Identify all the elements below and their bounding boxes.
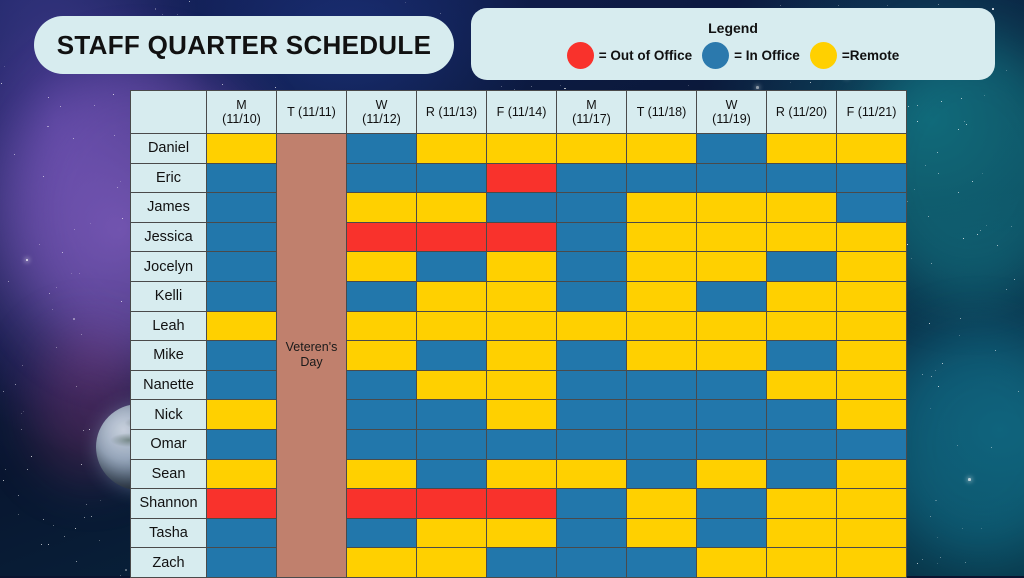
schedule-cell-in-office[interactable] [557,163,627,193]
schedule-cell-remote[interactable] [627,193,697,223]
column-header-line2: (11/17) [557,112,626,126]
schedule-cell-remote[interactable] [837,370,907,400]
schedule-cell-in-office[interactable] [347,518,417,548]
table-row: James [131,193,907,223]
schedule-cell-remote[interactable] [837,489,907,519]
column-header-4: F (11/14) [487,91,557,134]
schedule-cell-in-office[interactable] [557,400,627,430]
legend-item-1: = In Office [702,42,800,69]
legend-item-0: = Out of Office [567,42,692,69]
schedule-cell-remote[interactable] [767,222,837,252]
schedule-cell-remote[interactable] [487,370,557,400]
table-row: Jessica [131,222,907,252]
schedule-cell-in-office[interactable] [627,400,697,430]
schedule-cell-remote[interactable] [627,489,697,519]
schedule-cell-remote[interactable] [417,370,487,400]
header-corner-cell [131,91,207,134]
schedule-cell-in-office[interactable] [417,163,487,193]
schedule-cell-remote[interactable] [487,281,557,311]
schedule-cell-remote[interactable] [697,252,767,282]
schedule-cell-remote[interactable] [627,281,697,311]
staff-name-cell: Shannon [131,489,207,519]
column-header-line1: T (11/11) [277,105,346,119]
column-header-9: F (11/21) [837,91,907,134]
page-title-text: STAFF QUARTER SCHEDULE [57,30,431,61]
schedule-cell-remote[interactable] [767,370,837,400]
table-header: M(11/10)T (11/11)W(11/12)R (11/13)F (11/… [131,91,907,134]
schedule-cell-in-office[interactable] [417,341,487,371]
schedule-cell-in-office[interactable] [417,459,487,489]
schedule-cell-in-office[interactable] [767,252,837,282]
schedule-cell-remote[interactable] [417,281,487,311]
schedule-cell-remote[interactable] [487,311,557,341]
schedule-cell-out-of-office[interactable] [417,489,487,519]
schedule-cell-remote[interactable] [837,311,907,341]
staff-name-cell: Sean [131,459,207,489]
schedule-cell-remote[interactable] [627,252,697,282]
column-header-line2: (11/19) [697,112,766,126]
holiday-cell-veterans-day: Veteren'sDay [277,134,347,578]
schedule-cell-in-office[interactable] [697,281,767,311]
schedule-cell-remote[interactable] [487,400,557,430]
schedule-cell-remote[interactable] [837,459,907,489]
legend-item-label: = Out of Office [599,48,692,63]
column-header-line1: R (11/20) [767,105,836,119]
schedule-cell-in-office[interactable] [557,429,627,459]
schedule-cell-remote[interactable] [697,311,767,341]
staff-name-cell: Eric [131,163,207,193]
legend-title: Legend [708,20,758,36]
schedule-cell-in-office[interactable] [347,163,417,193]
schedule-cell-remote[interactable] [557,134,627,164]
schedule-cell-remote[interactable] [837,222,907,252]
table-row: DanielVeteren'sDay [131,134,907,164]
schedule-cell-in-office[interactable] [697,370,767,400]
column-header-3: R (11/13) [417,91,487,134]
schedule-cell-remote[interactable] [697,459,767,489]
schedule-cell-in-office[interactable] [557,489,627,519]
schedule-cell-remote[interactable] [347,341,417,371]
legend-items: = Out of Office= In Office=Remote [567,42,899,69]
schedule-cell-remote[interactable] [417,311,487,341]
schedule-cell-remote[interactable] [697,548,767,578]
staff-name-cell: Nick [131,400,207,430]
column-header-line1: T (11/18) [627,105,696,119]
schedule-cell-remote[interactable] [347,193,417,223]
schedule-cell-remote[interactable] [627,222,697,252]
schedule-cell-remote[interactable] [837,518,907,548]
schedule-cell-remote[interactable] [627,518,697,548]
schedule-cell-in-office[interactable] [697,134,767,164]
schedule-cell-in-office[interactable] [487,548,557,578]
schedule-cell-remote[interactable] [487,518,557,548]
schedule-cell-remote[interactable] [767,548,837,578]
schedule-cell-in-office[interactable] [767,400,837,430]
table-row: Nick [131,400,907,430]
schedule-cell-in-office[interactable] [767,459,837,489]
schedule-cell-in-office[interactable] [557,252,627,282]
schedule-cell-out-of-office[interactable] [207,489,277,519]
column-header-line1: M [557,98,626,112]
schedule-cell-in-office[interactable] [347,429,417,459]
schedule-cell-remote[interactable] [487,252,557,282]
staff-name-cell: Leah [131,311,207,341]
schedule-cell-out-of-office[interactable] [347,222,417,252]
schedule-cell-in-office[interactable] [767,341,837,371]
column-header-2: W(11/12) [347,91,417,134]
schedule-cell-remote[interactable] [627,311,697,341]
schedule-cell-remote[interactable] [837,252,907,282]
schedule-cell-in-office[interactable] [207,429,277,459]
schedule-cell-in-office[interactable] [557,193,627,223]
schedule-cell-in-office[interactable] [207,341,277,371]
table-row: Mike [131,341,907,371]
schedule-cell-in-office[interactable] [207,193,277,223]
header-row: M(11/10)T (11/11)W(11/12)R (11/13)F (11/… [131,91,907,134]
staff-name-cell: Nanette [131,370,207,400]
table-row: Leah [131,311,907,341]
column-header-line1: F (11/21) [837,105,906,119]
column-header-line1: M [207,98,276,112]
schedule-cell-remote[interactable] [207,311,277,341]
schedule-cell-remote[interactable] [417,134,487,164]
column-header-6: T (11/18) [627,91,697,134]
schedule-cell-in-office[interactable] [627,429,697,459]
table-row: Eric [131,163,907,193]
table-row: Shannon [131,489,907,519]
staff-name-cell: Zach [131,548,207,578]
table-row: Kelli [131,281,907,311]
table-row: Tasha [131,518,907,548]
schedule-cell-remote[interactable] [557,311,627,341]
schedule-cell-remote[interactable] [837,281,907,311]
schedule-cell-remote[interactable] [767,193,837,223]
schedule-cell-remote[interactable] [697,222,767,252]
staff-name-cell: Jessica [131,222,207,252]
schedule-cell-remote[interactable] [697,341,767,371]
schedule-cell-in-office[interactable] [557,341,627,371]
schedule-cell-remote[interactable] [207,134,277,164]
schedule-cell-in-office[interactable] [627,459,697,489]
column-header-line1: F (11/14) [487,105,556,119]
schedule-cell-in-office[interactable] [207,518,277,548]
schedule-cell-in-office[interactable] [557,548,627,578]
staff-name-cell: James [131,193,207,223]
schedule-cell-remote[interactable] [627,341,697,371]
table-row: Omar [131,429,907,459]
schedule-cell-remote[interactable] [417,548,487,578]
schedule-cell-in-office[interactable] [697,400,767,430]
schedule-cell-in-office[interactable] [207,370,277,400]
schedule-cell-out-of-office[interactable] [487,163,557,193]
legend-item-label: = In Office [734,48,800,63]
staff-name-cell: Jocelyn [131,252,207,282]
schedule-cell-in-office[interactable] [207,222,277,252]
staff-name-cell: Daniel [131,134,207,164]
schedule-cell-in-office[interactable] [487,429,557,459]
column-header-line1: W [697,98,766,112]
schedule-cell-in-office[interactable] [767,429,837,459]
schedule-cell-remote[interactable] [347,459,417,489]
table-row: Zach [131,548,907,578]
schedule-cell-remote[interactable] [347,548,417,578]
schedule-cell-remote[interactable] [417,193,487,223]
schedule-cell-in-office[interactable] [347,370,417,400]
staff-name-cell: Omar [131,429,207,459]
column-header-7: W(11/19) [697,91,767,134]
schedule-cell-in-office[interactable] [347,281,417,311]
table-body: DanielVeteren'sDayEricJamesJessicaJocely… [131,134,907,578]
legend-panel: Legend = Out of Office= In Office=Remote [471,8,995,80]
yellow-circle-icon [810,42,837,69]
schedule-cell-remote[interactable] [347,311,417,341]
schedule-cell-out-of-office[interactable] [487,222,557,252]
schedule-cell-remote[interactable] [627,134,697,164]
schedule-cell-in-office[interactable] [627,163,697,193]
column-header-line1: R (11/13) [417,105,486,119]
staff-schedule-table: M(11/10)T (11/11)W(11/12)R (11/13)F (11/… [130,90,907,578]
schedule-cell-remote[interactable] [837,400,907,430]
red-circle-icon [567,42,594,69]
column-header-line2: (11/12) [347,112,416,126]
schedule-cell-in-office[interactable] [697,489,767,519]
legend-item-label: =Remote [842,48,899,63]
schedule-cell-remote[interactable] [767,134,837,164]
page-title: STAFF QUARTER SCHEDULE [34,16,454,74]
schedule-cell-remote[interactable] [767,281,837,311]
column-header-line2: (11/10) [207,112,276,126]
schedule-cell-remote[interactable] [837,134,907,164]
schedule-cell-in-office[interactable] [627,370,697,400]
table-row: Nanette [131,370,907,400]
holiday-label-line1: Veteren's [277,340,346,355]
schedule-cell-in-office[interactable] [207,548,277,578]
schedule-cell-in-office[interactable] [627,548,697,578]
schedule-cell-in-office[interactable] [557,370,627,400]
schedule-cell-remote[interactable] [767,311,837,341]
schedule-cell-in-office[interactable] [697,429,767,459]
schedule-cell-in-office[interactable] [837,163,907,193]
schedule-cell-in-office[interactable] [557,281,627,311]
schedule-cell-remote[interactable] [347,252,417,282]
schedule-cell-in-office[interactable] [837,429,907,459]
schedule-cell-remote[interactable] [207,400,277,430]
schedule-cell-remote[interactable] [487,341,557,371]
schedule-cell-in-office[interactable] [557,518,627,548]
staff-name-cell: Kelli [131,281,207,311]
schedule-cell-remote[interactable] [837,341,907,371]
column-header-5: M(11/17) [557,91,627,134]
schedule-cell-remote[interactable] [767,518,837,548]
schedule-cell-remote[interactable] [417,518,487,548]
schedule-cell-in-office[interactable] [767,163,837,193]
schedule-cell-remote[interactable] [487,134,557,164]
column-header-8: R (11/20) [767,91,837,134]
schedule-cell-in-office[interactable] [837,193,907,223]
table-row: Jocelyn [131,252,907,282]
column-header-line1: W [347,98,416,112]
schedule-cell-remote[interactable] [837,548,907,578]
column-header-1: T (11/11) [277,91,347,134]
staff-name-cell: Mike [131,341,207,371]
schedule-cell-in-office[interactable] [697,518,767,548]
table-row: Sean [131,459,907,489]
schedule-cell-remote[interactable] [207,459,277,489]
schedule-cell-in-office[interactable] [207,281,277,311]
schedule-cell-in-office[interactable] [417,429,487,459]
schedule-cell-in-office[interactable] [697,163,767,193]
staff-name-cell: Tasha [131,518,207,548]
schedule-cell-in-office[interactable] [347,400,417,430]
schedule-cell-in-office[interactable] [207,252,277,282]
schedule-cell-in-office[interactable] [417,252,487,282]
schedule-cell-in-office[interactable] [417,400,487,430]
schedule-cell-in-office[interactable] [557,222,627,252]
schedule-cell-remote[interactable] [487,459,557,489]
blue-circle-icon [702,42,729,69]
schedule-cell-remote[interactable] [697,193,767,223]
column-header-0: M(11/10) [207,91,277,134]
legend-item-2: =Remote [810,42,899,69]
schedule-cell-in-office[interactable] [207,163,277,193]
schedule-cell-out-of-office[interactable] [417,222,487,252]
schedule-cell-remote[interactable] [557,459,627,489]
schedule-cell-in-office[interactable] [487,193,557,223]
schedule-cell-out-of-office[interactable] [487,489,557,519]
schedule-cell-remote[interactable] [767,489,837,519]
holiday-label-line2: Day [277,355,346,370]
schedule-cell-in-office[interactable] [347,134,417,164]
schedule-cell-out-of-office[interactable] [347,489,417,519]
